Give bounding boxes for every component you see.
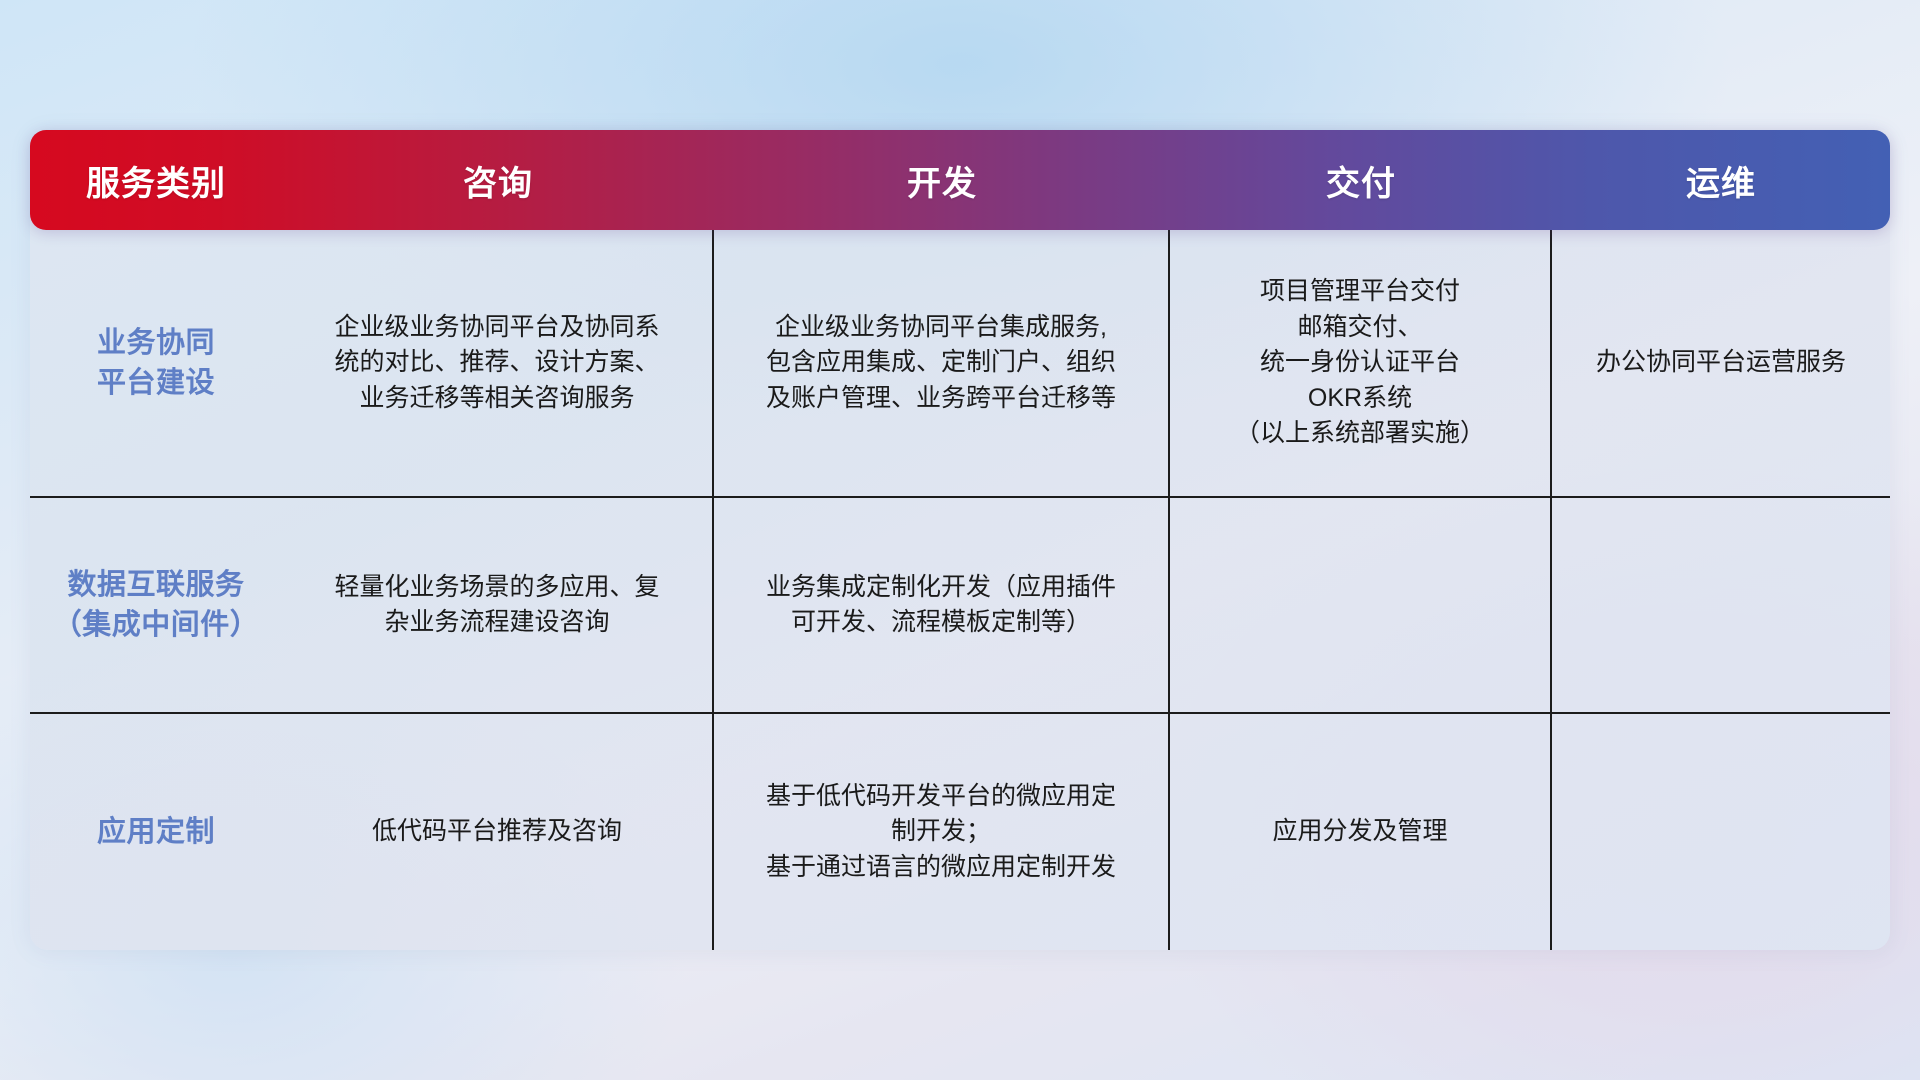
cell-delivery: 应用分发及管理 <box>1170 714 1552 950</box>
table-body: 业务协同 平台建设 企业级业务协同平台及协同系 统的对比、推荐、设计方案、 业务… <box>30 230 1890 950</box>
column-header-delivery: 交付 <box>1170 156 1552 205</box>
cell-development: 业务集成定制化开发（应用插件 可开发、流程模板定制等） <box>714 498 1170 712</box>
row-category-label: 数据互联服务 （集成中间件） <box>30 498 282 712</box>
table-row: 应用定制 低代码平台推荐及咨询 基于低代码开发平台的微应用定 制开发； 基于通过… <box>30 714 1890 950</box>
cell-consulting: 低代码平台推荐及咨询 <box>282 714 714 950</box>
column-header-consulting: 咨询 <box>282 156 714 205</box>
column-header-service-category: 服务类别 <box>30 156 282 205</box>
column-header-operations: 运维 <box>1552 156 1890 205</box>
cell-operations <box>1552 714 1890 950</box>
cell-development: 基于低代码开发平台的微应用定 制开发； 基于通过语言的微应用定制开发 <box>714 714 1170 950</box>
table-row: 业务协同 平台建设 企业级业务协同平台及协同系 统的对比、推荐、设计方案、 业务… <box>30 230 1890 498</box>
cell-operations <box>1552 498 1890 712</box>
table-header-row: 服务类别 咨询 开发 交付 运维 <box>30 130 1890 230</box>
row-category-label: 应用定制 <box>30 714 282 950</box>
table-row: 数据互联服务 （集成中间件） 轻量化业务场景的多应用、复 杂业务流程建设咨询 业… <box>30 498 1890 714</box>
cell-development: 企业级业务协同平台集成服务, 包含应用集成、定制门户、组织 及账户管理、业务跨平… <box>714 230 1170 496</box>
column-header-development: 开发 <box>714 156 1170 205</box>
cell-delivery <box>1170 498 1552 712</box>
row-category-label: 业务协同 平台建设 <box>30 230 282 496</box>
cell-delivery: 项目管理平台交付 邮箱交付、 统一身份认证平台 OKR系统 （以上系统部署实施） <box>1170 230 1552 496</box>
cell-operations: 办公协同平台运营服务 <box>1552 230 1890 496</box>
cell-consulting: 企业级业务协同平台及协同系 统的对比、推荐、设计方案、 业务迁移等相关咨询服务 <box>282 230 714 496</box>
page-root: 服务类别 咨询 开发 交付 运维 业务协同 平台建设 企业级业务协同平台及协同系… <box>0 0 1920 1080</box>
cell-consulting: 轻量化业务场景的多应用、复 杂业务流程建设咨询 <box>282 498 714 712</box>
